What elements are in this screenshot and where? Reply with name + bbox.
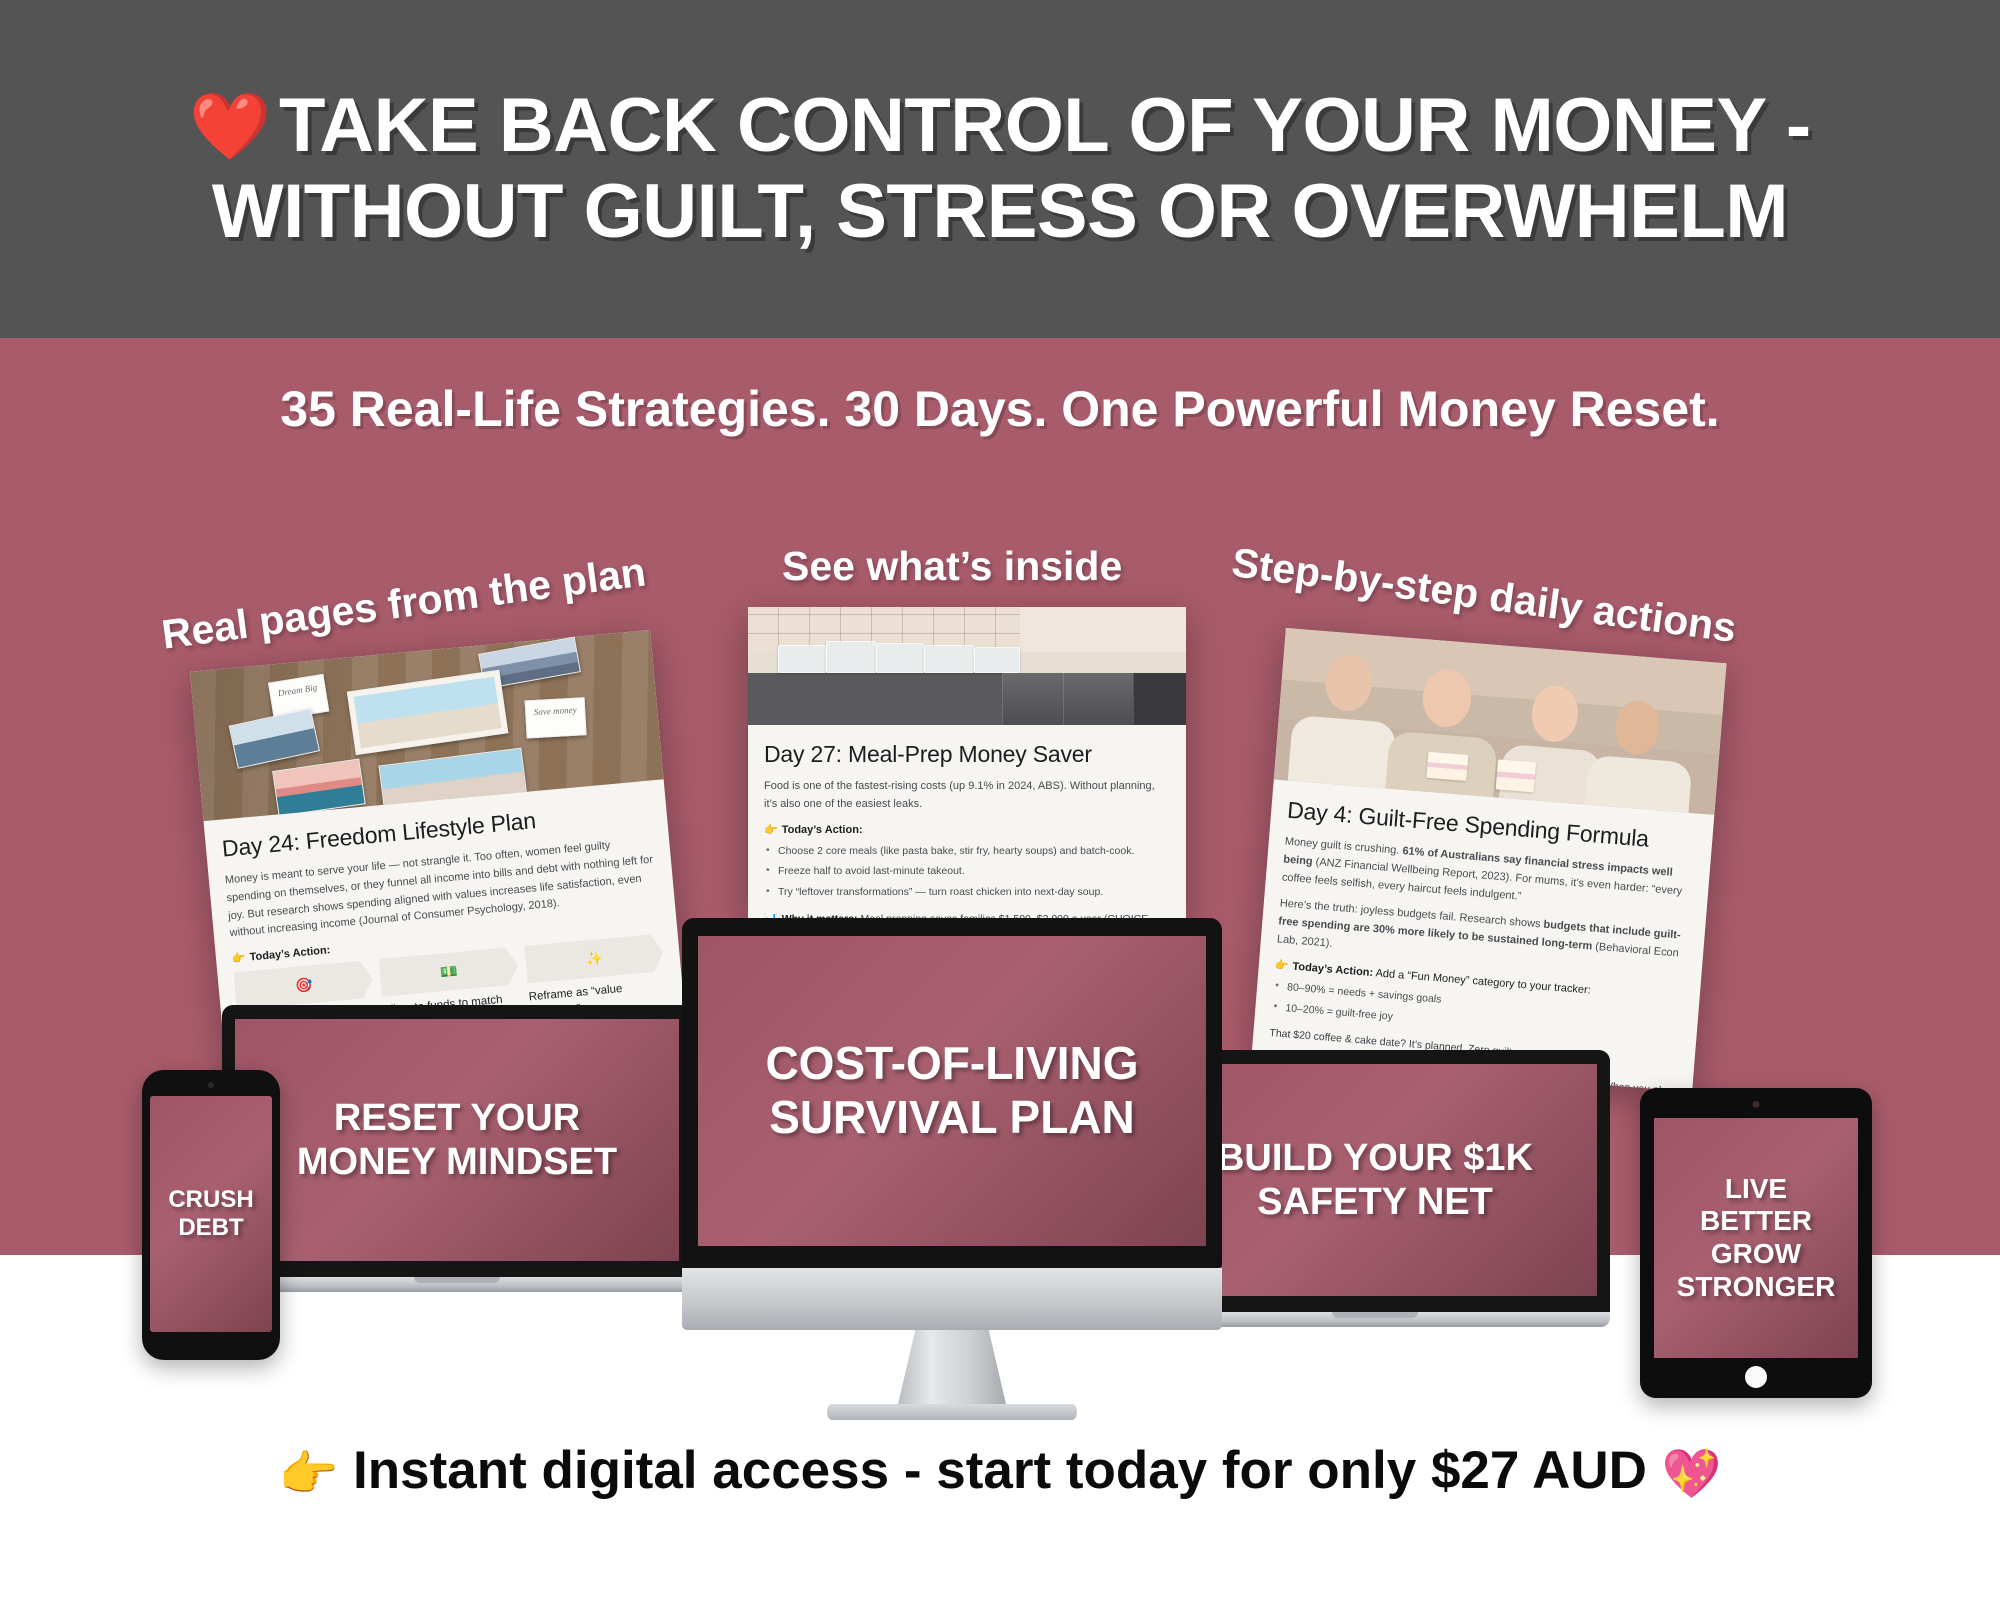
laptop-left-line-2: MONEY MINDSET: [297, 1141, 617, 1183]
page-mid-body: Day 27: Meal-Prep Money Saver Food is on…: [748, 725, 1186, 927]
header-title-line2: WITHOUT GUILT, STRESS OR OVERWHELM: [212, 169, 1788, 254]
heart-icon: ❤️: [189, 89, 271, 163]
tablet-line-2: BETTER: [1700, 1205, 1812, 1236]
phone-screen: CRUSH DEBT: [150, 1096, 272, 1332]
tablet-screen: LIVE BETTER GROW STRONGER: [1654, 1118, 1858, 1358]
kitchen-cabinet: [1063, 673, 1134, 725]
para1-part-a: Money guilt is crushing.: [1284, 836, 1403, 857]
person-torso: [1288, 715, 1397, 789]
meal-container: [876, 643, 924, 673]
footer-cta: 👉 Instant digital access - start today f…: [0, 1440, 2000, 1502]
sparkle-icon: ✨: [524, 933, 665, 983]
header-banner: ❤️TAKE BACK CONTROL OF YOUR MONEY - WITH…: [0, 0, 2000, 338]
phone-line-2: DEBT: [178, 1214, 243, 1241]
laptop-lid: RESET YOUR MONEY MINDSET: [222, 1005, 692, 1277]
tablet-screen-text: LIVE BETTER GROW STRONGER: [1654, 1173, 1858, 1304]
tablet-screen-content: LIVE BETTER GROW STRONGER: [1654, 1118, 1858, 1358]
laptop-trackpad-notch: [1332, 1312, 1418, 1318]
imac-line-1: COST-OF-LIVING: [765, 1037, 1138, 1089]
phone-line-1: CRUSH: [168, 1186, 253, 1213]
money-icon: 💵: [379, 947, 520, 997]
photo-thumb-sea: [229, 708, 320, 769]
doc-bullet: Try “leftover transformations” — turn ro…: [764, 884, 1170, 902]
monitor-bezel: COST-OF-LIVING SURVIVAL PLAN: [682, 918, 1222, 1268]
tablet-camera-icon: [1753, 1101, 1760, 1108]
device-laptop-left: RESET YOUR MONEY MINDSET: [222, 1005, 692, 1292]
action-heading-text: Today’s Action:: [782, 824, 863, 836]
person-head: [1613, 699, 1661, 756]
subtitle: 35 Real-Life Strategies. 30 Days. One Po…: [0, 380, 2000, 438]
pointing-hand-icon: 👉: [1274, 959, 1289, 972]
caption-see-inside: See what’s inside: [782, 543, 1122, 590]
sample-page-day-27: Day 27: Meal-Prep Money Saver Food is on…: [748, 607, 1186, 927]
monitor-stand-neck: [898, 1330, 1006, 1404]
tablet-line-4: STRONGER: [1677, 1271, 1836, 1302]
photo-frame-main: [347, 670, 509, 755]
device-desktop-monitor: COST-OF-LIVING SURVIVAL PLAN: [682, 918, 1222, 1420]
laptop-left-line-1: RESET YOUR: [334, 1097, 580, 1139]
action-heading-text: Today’s Action:: [1292, 960, 1374, 978]
imac-line-2: SURVIVAL PLAN: [769, 1091, 1135, 1143]
doc-action-heading: 👉Today’s Action:: [764, 823, 1170, 836]
meal-container: [974, 647, 1020, 673]
laptop-trackpad-notch: [414, 1277, 500, 1283]
tablet-home-button[interactable]: [1745, 1366, 1767, 1388]
person-torso: [1585, 755, 1693, 813]
laptop-screen-text: RESET YOUR MONEY MINDSET: [235, 1096, 679, 1185]
device-smartphone: CRUSH DEBT: [142, 1070, 280, 1360]
doc-bullet: Choose 2 core meals (like pasta bake, st…: [764, 843, 1170, 861]
meal-container: [826, 641, 876, 673]
tablet-line-3: GROW: [1711, 1238, 1801, 1269]
pointing-hand-icon: 👉: [764, 824, 778, 836]
pin-note-save-money: Save money: [525, 697, 587, 738]
action-heading-text: Today’s Action:: [249, 944, 331, 963]
cake-slice: [1426, 752, 1468, 781]
laptop-screen: RESET YOUR MONEY MINDSET: [235, 1019, 679, 1261]
phone-camera-icon: [208, 1082, 214, 1088]
monitor-stand-base: [827, 1404, 1077, 1420]
laptop-right-line-2: SAFETY NET: [1257, 1181, 1493, 1223]
sample-page-day-4: Day 4: Guilt-Free Spending Formula Money…: [1251, 628, 1726, 1092]
sparkling-heart-icon: 💖: [1662, 1448, 1722, 1501]
monitor-screen-text: COST-OF-LIVING SURVIVAL PLAN: [698, 1037, 1206, 1145]
laptop-right-line-1: BUILD YOUR $1K: [1217, 1137, 1533, 1179]
target-icon: 🎯: [233, 960, 374, 1010]
kitchen-oven: [1133, 673, 1186, 725]
device-tablet: LIVE BETTER GROW STRONGER: [1640, 1088, 1872, 1398]
cake-slice: [1496, 759, 1536, 792]
laptop-base: [222, 1277, 692, 1292]
phone-screen-text: CRUSH DEBT: [150, 1186, 272, 1242]
phone-screen-content: CRUSH DEBT: [150, 1096, 272, 1332]
meal-prep-photo: [748, 607, 1186, 725]
photo-two-women: [354, 677, 502, 749]
monitor-chin: [682, 1268, 1222, 1330]
doc-paragraph: Food is one of the fastest-rising costs …: [764, 778, 1170, 814]
pointing-hand-icon: 👉: [279, 1448, 339, 1501]
doc-title-day-27: Day 27: Meal-Prep Money Saver: [764, 741, 1170, 768]
meal-container: [778, 645, 826, 673]
person-head: [1421, 667, 1473, 729]
page-right-body: Day 4: Guilt-Free Spending Formula Money…: [1251, 779, 1714, 1092]
page-title: ❤️TAKE BACK CONTROL OF YOUR MONEY - WITH…: [189, 83, 1810, 255]
person-head: [1530, 684, 1580, 744]
monitor-screen: COST-OF-LIVING SURVIVAL PLAN: [698, 936, 1206, 1246]
meal-container: [924, 645, 974, 673]
header-title-line1: TAKE BACK CONTROL OF YOUR MONEY -: [279, 83, 1811, 168]
kitchen-cabinet: [1002, 673, 1064, 725]
person-head: [1324, 653, 1374, 713]
tablet-line-1: LIVE: [1725, 1173, 1787, 1204]
pointing-hand-icon: 👉: [232, 952, 247, 965]
pin-save-label: Save money: [526, 698, 585, 718]
monitor-screen-content: COST-OF-LIVING SURVIVAL PLAN: [698, 936, 1206, 1246]
laptop-screen-content: RESET YOUR MONEY MINDSET: [235, 1019, 679, 1261]
footer-cta-text: Instant digital access - start today for…: [353, 1441, 1647, 1500]
doc-bullet: Freeze half to avoid last-minute takeout…: [764, 863, 1170, 881]
pin-dream-label: Dream Big: [269, 675, 325, 700]
